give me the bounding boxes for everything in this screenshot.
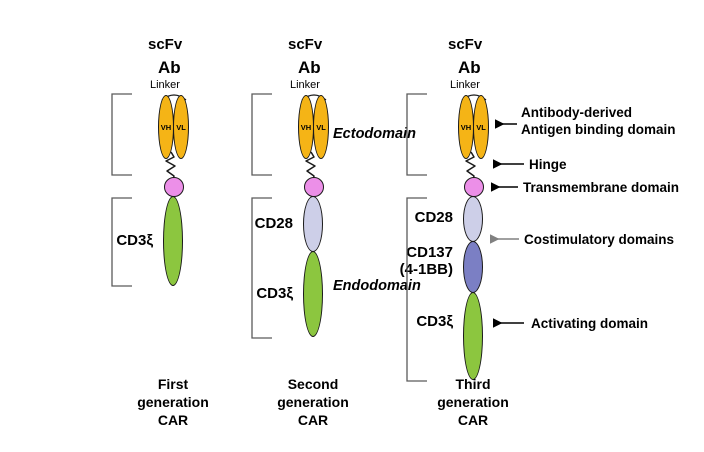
caption-third: Third generation CAR [408,375,538,430]
hinge-callout: Hinge [529,157,567,174]
activating-arrow [490,317,526,329]
vh-label-third: VH [458,123,474,132]
antigen-binding-callout: Antibody-derived Antigen binding domain [521,105,675,139]
transmembrane-arrow [488,181,520,193]
transmembrane-domain-third [464,177,484,197]
figure-canvas: scFv Ab Linker VH VL CD3ξ First [0,0,704,452]
costimulatory-arrow [487,233,521,245]
caption-line2-third: generation [408,393,538,411]
antigen-binding-arrow [492,118,518,130]
car-column-third: scFv Ab Linker VH VL CD28 CD137 (4-1BB) … [0,0,704,452]
cd3z-domain-third [463,292,483,380]
activating-callout: Activating domain [531,316,648,333]
endodomain-bracket-third [405,197,429,382]
antigen-binding-line2: Antigen binding domain [521,122,675,139]
header-ab-third: Ab [458,58,481,78]
cd28-domain-third [463,196,483,242]
ectodomain-bracket-third [405,93,429,176]
caption-line1-third: Third [408,375,538,393]
costimulatory-callout: Costimulatory domains [524,232,674,249]
header-scfv-third: scFv [448,36,482,53]
transmembrane-callout: Transmembrane domain [523,180,679,197]
caption-line3-third: CAR [408,411,538,429]
hinge-arrow [490,158,526,170]
antigen-binding-line1: Antibody-derived [521,105,675,122]
vl-label-third: VL [473,123,489,132]
cd137-domain-third [463,241,483,293]
